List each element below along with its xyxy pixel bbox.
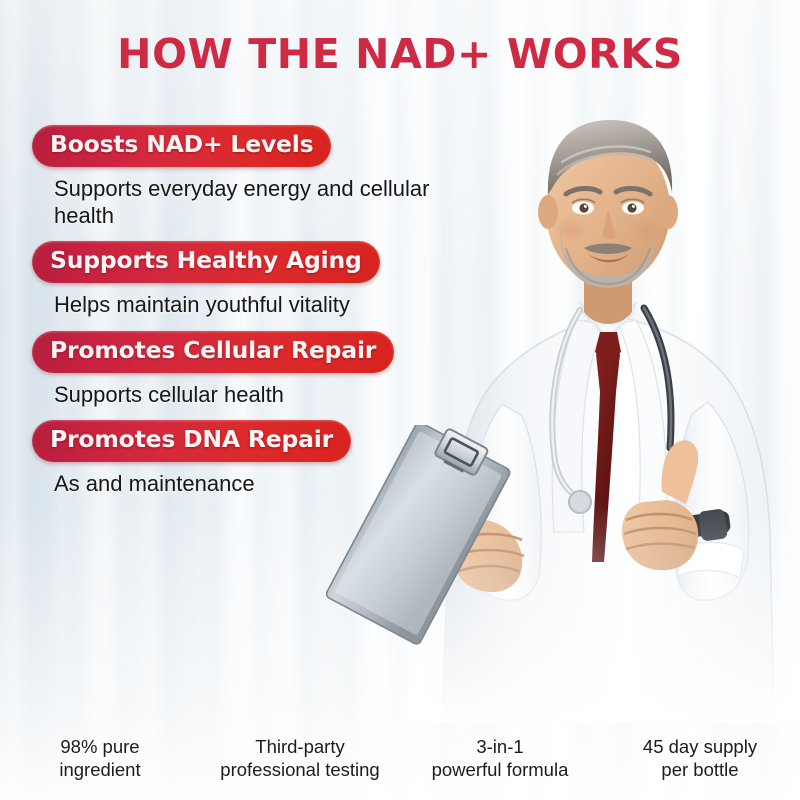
feature-purity-line2: ingredient	[0, 758, 200, 782]
benefit-description-supports-healthy-aging: Helps maintain youthful vitality	[54, 292, 454, 319]
benefit-description-promotes-cellular-repair: Supports cellular health	[54, 382, 454, 409]
feature-formula-line1: 3-in-1	[400, 735, 600, 759]
feature-item-purity: 98% pure ingredient	[0, 735, 200, 782]
feature-bar: 98% pure ingredient Third-party professi…	[0, 735, 800, 782]
benefit-badge-boosts-nad-levels[interactable]: Boosts NAD+ Levels	[32, 125, 331, 167]
feature-item-supply: 45 day supply per bottle	[600, 735, 800, 782]
benefit-item-supports-healthy-aging: Supports Healthy Aging Helps maintain yo…	[32, 241, 462, 319]
feature-testing-line1: Third-party	[200, 735, 400, 759]
feature-formula-line2: powerful formula	[400, 758, 600, 782]
feature-supply-line2: per bottle	[600, 758, 800, 782]
page-title: HOW THE NAD+ WORKS	[0, 30, 800, 78]
benefit-item-promotes-dna-repair: Promotes DNA Repair As and maintenance	[32, 420, 462, 498]
feature-supply-line1: 45 day supply	[600, 735, 800, 759]
feature-item-testing: Third-party professional testing	[200, 735, 400, 782]
benefit-badge-promotes-cellular-repair[interactable]: Promotes Cellular Repair	[32, 331, 394, 373]
feature-purity-line1: 98% pure	[0, 735, 200, 759]
benefit-item-boosts-nad-levels: Boosts NAD+ Levels Supports everyday ene…	[32, 125, 462, 229]
benefits-list: Boosts NAD+ Levels Supports everyday ene…	[32, 125, 462, 510]
poster-canvas: HOW THE NAD+ WORKS Boosts NAD+ Levels Su…	[0, 0, 800, 800]
benefit-description-boosts-nad-levels: Supports everyday energy and cellular he…	[54, 176, 454, 230]
benefit-description-promotes-dna-repair: As and maintenance	[54, 471, 454, 498]
benefit-item-promotes-cellular-repair: Promotes Cellular Repair Supports cellul…	[32, 331, 462, 409]
feature-item-formula: 3-in-1 powerful formula	[400, 735, 600, 782]
benefit-badge-supports-healthy-aging[interactable]: Supports Healthy Aging	[32, 241, 380, 283]
benefit-badge-promotes-dna-repair[interactable]: Promotes DNA Repair	[32, 420, 351, 462]
feature-testing-line2: professional testing	[200, 758, 400, 782]
